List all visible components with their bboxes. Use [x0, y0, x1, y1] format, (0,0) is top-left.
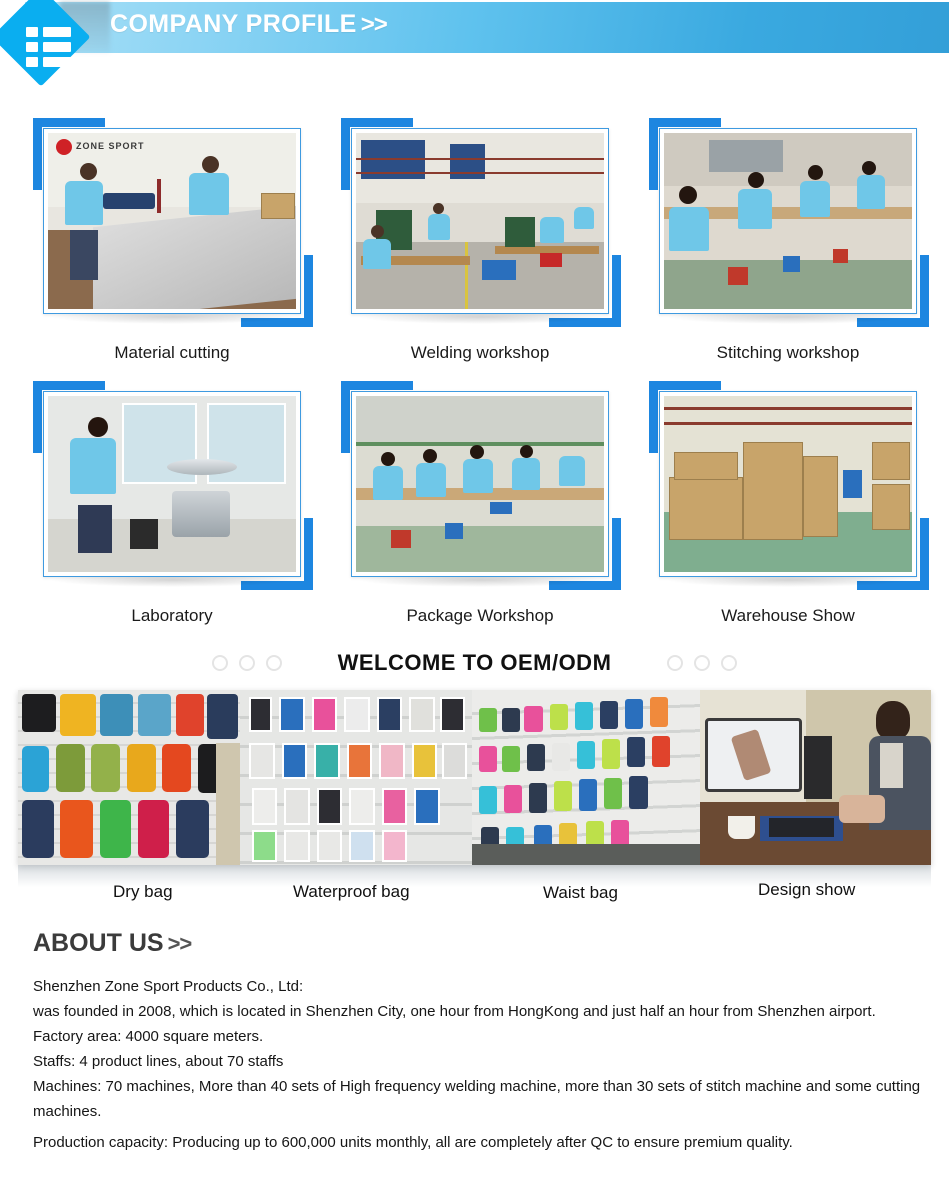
- card-photo-frame: [43, 391, 301, 577]
- card-caption: Material cutting: [25, 343, 319, 363]
- grid-list-icon: [26, 27, 74, 67]
- panorama-caption: Design show: [758, 880, 855, 900]
- photo-material-cutting: ZONE SPORT: [48, 133, 296, 309]
- panorama-captions: Dry bag Waterproof bag Waist bag Design …: [18, 868, 931, 908]
- card-caption: Warehouse Show: [641, 606, 935, 626]
- page-title-chevrons: >>: [361, 11, 387, 38]
- facility-card[interactable]: Stitching workshop: [641, 114, 935, 369]
- product-panorama: Dry bag Waterproof bag Waist bag Design …: [0, 690, 949, 915]
- facility-card[interactable]: Laboratory: [25, 377, 319, 632]
- about-us-title: ABOUT US>>: [33, 929, 949, 958]
- about-us-body: Shenzhen Zone Sport Products Co., Ltd: w…: [33, 974, 923, 1155]
- dot-indicator[interactable]: [239, 655, 255, 671]
- welcome-dots-right: [667, 655, 737, 671]
- photo-warehouse-show: [664, 396, 912, 572]
- photo-stitching-workshop: [664, 133, 912, 309]
- card-photo-frame: [659, 128, 917, 314]
- panorama-caption: Waist bag: [543, 883, 618, 903]
- about-us-chevrons: >>: [168, 931, 192, 956]
- panorama-panel-design-show[interactable]: [700, 690, 931, 865]
- page-header: COMPANY PROFILE>>: [0, 0, 949, 104]
- about-line: Machines: 70 machines, More than 40 sets…: [33, 1074, 923, 1124]
- panorama-caption: Waterproof bag: [293, 882, 410, 902]
- dot-indicator[interactable]: [694, 655, 710, 671]
- panorama-caption: Dry bag: [113, 882, 173, 902]
- page-title-text: COMPANY PROFILE: [110, 10, 357, 38]
- about-line: was founded in 2008, which is located in…: [33, 999, 923, 1024]
- dot-indicator[interactable]: [667, 655, 683, 671]
- welcome-strip: WELCOME TO OEM/ODM: [0, 640, 949, 686]
- about-line: Shenzhen Zone Sport Products Co., Ltd:: [33, 974, 923, 999]
- welcome-dots-left: [212, 655, 282, 671]
- about-line: Production capacity: Producing up to 600…: [33, 1130, 923, 1155]
- about-us-section: ABOUT US>> Shenzhen Zone Sport Products …: [0, 915, 949, 1155]
- card-photo-frame: ZONE SPORT: [43, 128, 301, 314]
- card-photo-frame: [659, 391, 917, 577]
- card-photo-frame: [351, 391, 609, 577]
- facility-card[interactable]: Welding workshop: [333, 114, 627, 369]
- card-caption: Welding workshop: [333, 343, 627, 363]
- panorama-panel-waterproof-bag[interactable]: [240, 690, 472, 865]
- photo-package-workshop: [356, 396, 604, 572]
- dot-indicator[interactable]: [721, 655, 737, 671]
- facility-card[interactable]: Package Workshop: [333, 377, 627, 632]
- facility-card[interactable]: Warehouse Show: [641, 377, 935, 632]
- about-us-title-text: ABOUT US: [33, 929, 164, 957]
- page-title: COMPANY PROFILE>>: [110, 10, 387, 39]
- facility-card[interactable]: ZONE SPORT: [25, 114, 319, 369]
- card-caption: Package Workshop: [333, 606, 627, 626]
- card-caption: Laboratory: [25, 606, 319, 626]
- photo-laboratory: [48, 396, 296, 572]
- about-line: Factory area: 4000 square meters.: [33, 1024, 923, 1049]
- panorama-panel-dry-bag[interactable]: [18, 690, 240, 865]
- dot-indicator[interactable]: [266, 655, 282, 671]
- facility-card-row-2: Laboratory: [0, 377, 949, 632]
- card-caption: Stitching workshop: [641, 343, 935, 363]
- facility-card-row-1: ZONE SPORT: [0, 114, 949, 369]
- card-photo-frame: [351, 128, 609, 314]
- facility-card-grid: ZONE SPORT: [0, 104, 949, 632]
- photo-welding-workshop: [356, 133, 604, 309]
- dot-indicator[interactable]: [212, 655, 228, 671]
- panorama-panel-waist-bag[interactable]: [472, 690, 700, 865]
- about-line: Staffs: 4 product lines, about 70 staffs: [33, 1049, 923, 1074]
- panorama-strip: [18, 690, 931, 865]
- welcome-text: WELCOME TO OEM/ODM: [338, 650, 612, 676]
